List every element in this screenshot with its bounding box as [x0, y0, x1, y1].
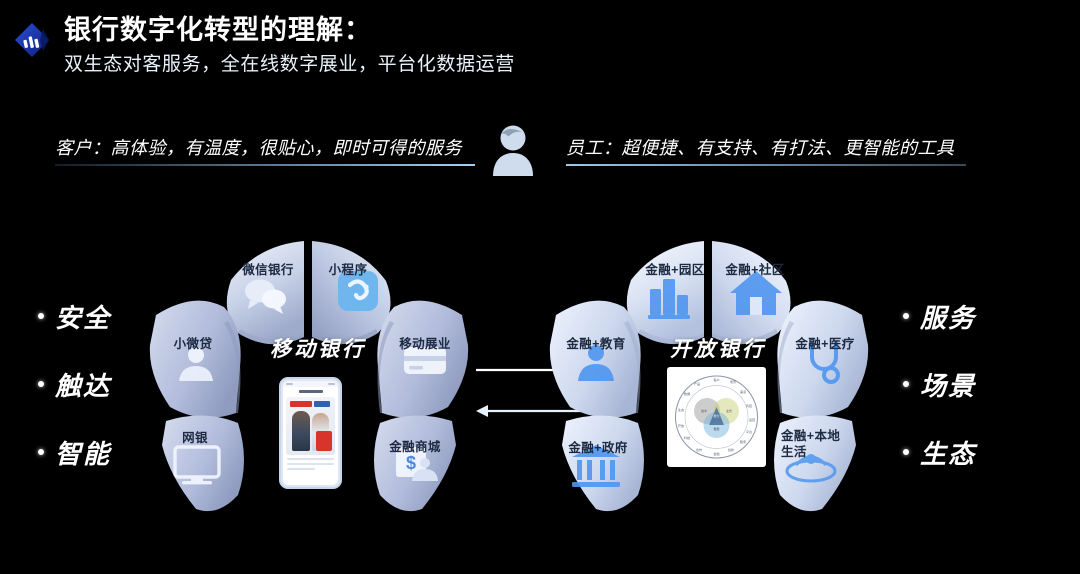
right-bullet-item: 场景	[903, 350, 1043, 418]
promo-tag-red	[290, 401, 312, 407]
person-avatar-icon	[492, 124, 534, 176]
bar-chart-diamond-logo-icon	[12, 20, 52, 60]
page-title: 银行数字化转型的理解：	[64, 14, 824, 48]
svg-text:风控: 风控	[746, 403, 752, 408]
svg-text:合作: 合作	[696, 447, 702, 452]
petal-finance-medical[interactable]	[777, 301, 868, 418]
slide-canvas: 银行数字化转型的理解： 双生态对客服务，全在线数字展业，平台化数据运营 客户：高…	[0, 0, 1080, 574]
phone-screen	[283, 381, 338, 485]
svg-text:数据: 数据	[684, 391, 690, 396]
svg-text:$: $	[406, 453, 416, 473]
left-bullet-label: 安全	[55, 298, 111, 335]
svg-text:场景: 场景	[730, 379, 736, 384]
svg-text:技术: 技术	[701, 408, 707, 413]
page-subtitle: 双生态对客服务，全在线数字展业，平台化数据运营	[64, 52, 824, 79]
persona-row: 客户：高体验，有温度，很贴心，即时可得的服务 员工：超便捷、有支持、有打法、更智…	[0, 128, 1080, 186]
right-bullet-item: 生态	[903, 418, 1043, 486]
left-bullet-label: 智能	[55, 434, 111, 471]
svg-text:客户: 客户	[713, 377, 719, 382]
open-bank-ecosystem-diagram: 客户场景 产品渠道 数据风控 生态运营 开放平台 科技服务 合作金融 创新 能力…	[667, 367, 766, 467]
right-bullet-label: 场景	[920, 366, 976, 403]
svg-text:科技: 科技	[684, 435, 690, 440]
svg-text:数据: 数据	[714, 426, 720, 431]
mobile-app-phone-mockup	[279, 377, 342, 489]
customer-statement: 客户：高体验，有温度，很贴心，即时可得的服务	[55, 134, 462, 160]
customer-underline	[55, 164, 475, 166]
svg-text:开放: 开放	[678, 423, 684, 428]
svg-text:创新: 创新	[728, 447, 734, 452]
right-bullet-label: 生态	[920, 434, 976, 471]
bullet-dot-icon	[38, 449, 44, 455]
svg-text:业务: 业务	[726, 408, 732, 413]
bullet-dot-icon	[38, 313, 44, 319]
svg-text:能力: 能力	[714, 413, 720, 418]
left-bullet-label: 触达	[55, 366, 111, 403]
right-bullet-label: 服务	[920, 298, 976, 335]
phone-promo-banner	[286, 397, 335, 455]
employee-statement: 员工：超便捷、有支持、有打法、更智能的工具	[566, 134, 955, 160]
svg-text:渠道: 渠道	[740, 389, 746, 394]
phone-app-title	[283, 387, 338, 395]
promo-tag-blue	[314, 401, 330, 407]
employee-underline	[566, 164, 966, 166]
phone-content-rows	[283, 455, 338, 470]
ecosystem-venn-svg: 客户场景 产品渠道 数据风控 生态运营 开放平台 科技服务 合作金融 创新 能力…	[667, 367, 766, 467]
bullet-dot-icon	[38, 381, 44, 387]
right-bullet-item: 服务	[903, 282, 1043, 350]
svg-text:生态: 生态	[678, 407, 684, 412]
promo-person-left	[292, 411, 310, 451]
promo-card	[316, 431, 332, 451]
svg-text:金融: 金融	[713, 451, 719, 456]
bank-card-icon	[404, 347, 446, 374]
right-bullet-list: 服务 场景 生态	[903, 282, 1043, 486]
svg-text:产品: 产品	[694, 381, 700, 386]
svg-text:服务: 服务	[740, 439, 746, 444]
svg-text:运营: 运营	[749, 417, 755, 422]
mini-program-icon	[338, 271, 378, 311]
petal-finance-local-life[interactable]	[774, 415, 856, 511]
svg-text:平台: 平台	[746, 429, 752, 434]
title-block: 银行数字化转型的理解： 双生态对客服务，全在线数字展业，平台化数据运营	[64, 14, 824, 78]
